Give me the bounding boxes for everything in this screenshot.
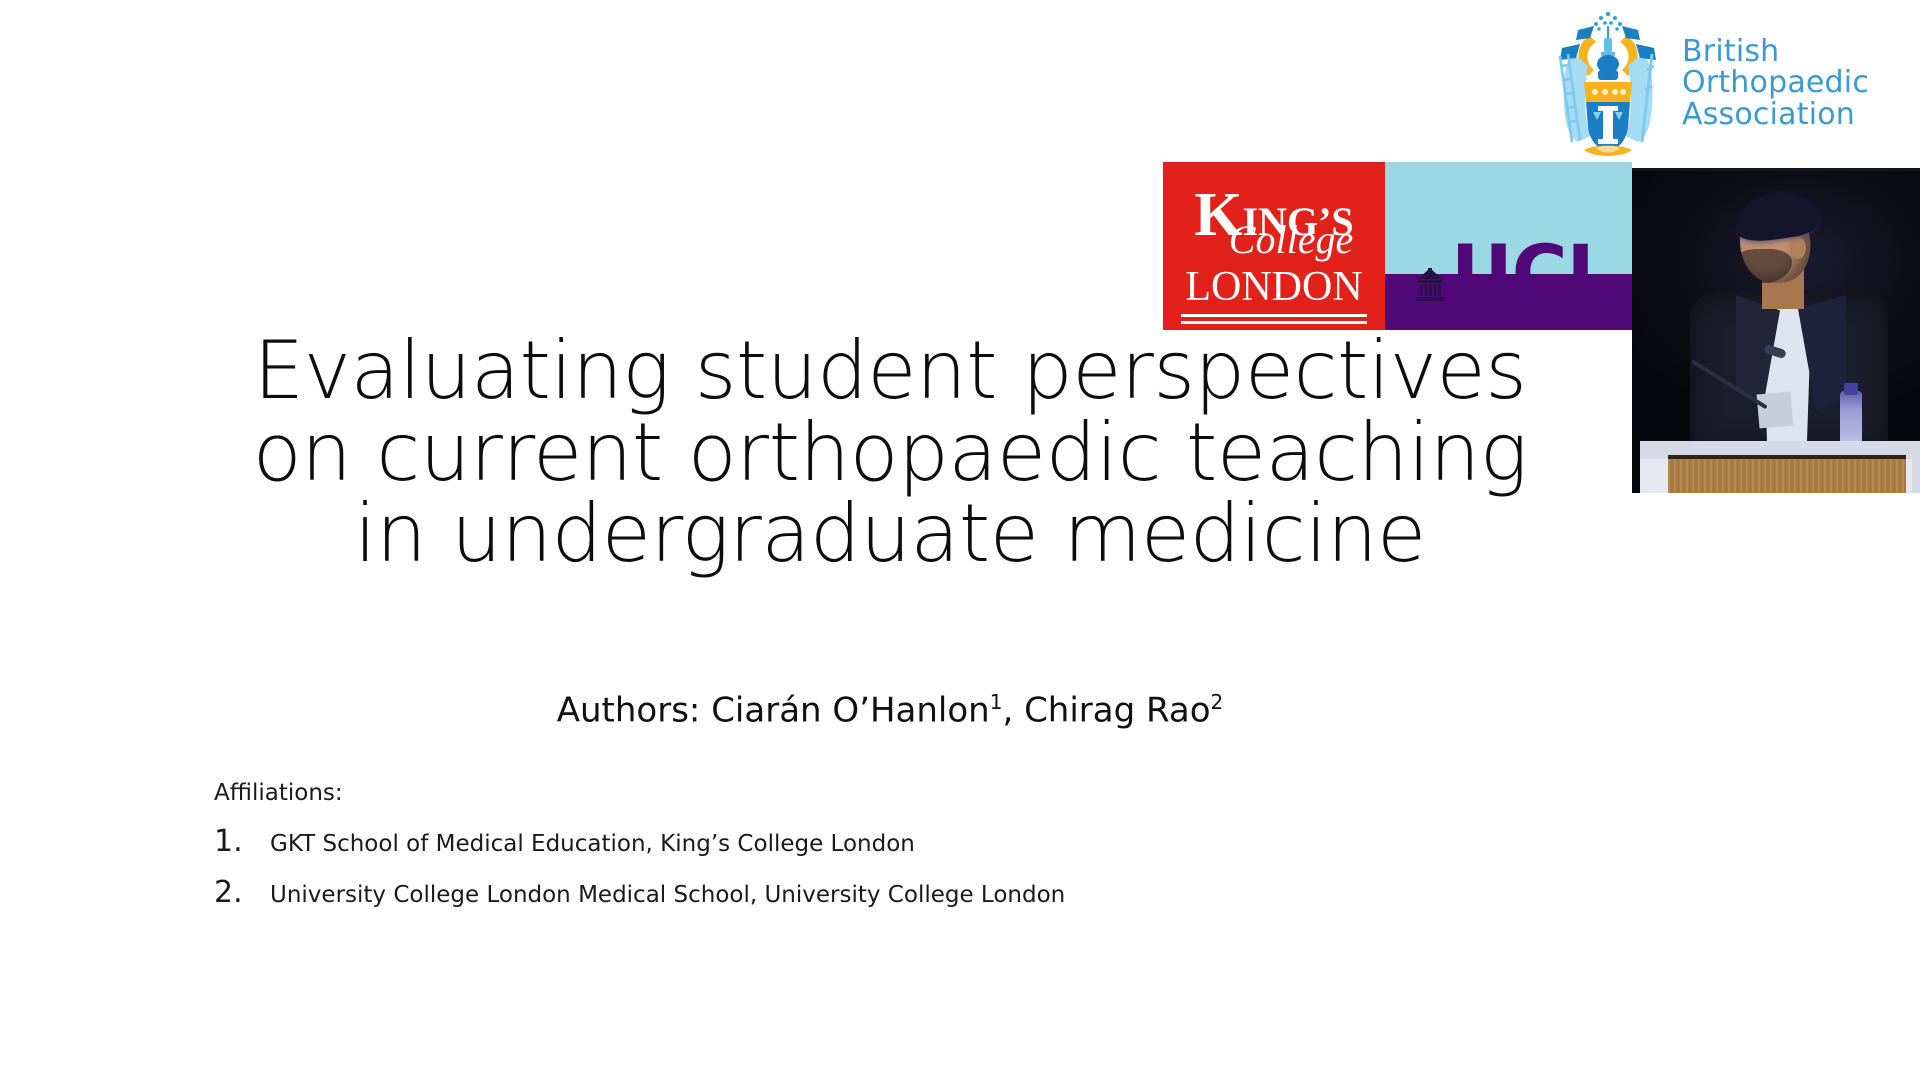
lectern-side-left (1640, 459, 1670, 493)
ucl-logo: UCL (1385, 162, 1632, 330)
presentation-slide: British Orthopaedic Association KING’S C… (0, 0, 1920, 1080)
affiliation-item: 1. GKT School of Medical Education, King… (214, 824, 1314, 859)
speaker-ear (1790, 237, 1806, 259)
boa-line-1: British (1682, 36, 1869, 67)
boa-wordmark: British Orthopaedic Association (1682, 36, 1869, 130)
kcl-line-college: College (1163, 220, 1385, 260)
british-orthopaedic-association-logo: British Orthopaedic Association (1548, 4, 1920, 162)
author-2-name: Chirag Rao (1024, 690, 1210, 730)
slide-title: Evaluating student perspectives on curre… (150, 330, 1630, 575)
water-bottle-cap (1844, 383, 1858, 395)
author-1-affiliation-marker: 1 (990, 690, 1003, 714)
ucl-letters: UCL (1451, 243, 1614, 302)
affiliations-heading: Affiliations: (214, 780, 1314, 806)
affiliations-list: 1. GKT School of Medical Education, King… (214, 824, 1314, 910)
author-2-affiliation-marker: 2 (1211, 690, 1224, 714)
lectern-front-panel (1668, 455, 1906, 493)
title-line-3: in undergraduate medicine (150, 493, 1630, 575)
affiliation-text: GKT School of Medical Education, King’s … (270, 831, 915, 857)
title-line-1: Evaluating student perspectives (150, 330, 1630, 412)
authors-separator: , (1002, 690, 1024, 730)
affiliation-number: 2. (214, 875, 270, 910)
affiliation-number: 1. (214, 824, 270, 859)
speaker-video-overlay[interactable] (1632, 168, 1920, 493)
speaker-lanyard-badge (1757, 392, 1794, 429)
lectern-wood-grain (1668, 459, 1906, 493)
ucl-portico-icon (1415, 268, 1445, 302)
affiliation-text: University College London Medical School… (270, 882, 1065, 908)
title-line-2: on current orthopaedic teaching (150, 412, 1630, 494)
kcl-line-london: LONDON (1163, 266, 1385, 308)
boa-line-3: Association (1682, 99, 1869, 130)
kings-college-london-logo: KING’S College LONDON (1163, 162, 1385, 330)
affiliations-block: Affiliations: 1. GKT School of Medical E… (214, 780, 1314, 926)
boa-crest-icon (1548, 8, 1668, 158)
author-1-name: Ciarán O’Hanlon (711, 690, 990, 730)
authors-prefix: Authors: (557, 690, 711, 730)
ucl-mark: UCL (1415, 243, 1614, 302)
authors-line: Authors: Ciarán O’Hanlon1, Chirag Rao2 (150, 690, 1630, 730)
affiliation-item: 2. University College London Medical Sch… (214, 875, 1314, 910)
boa-line-2: Orthopaedic (1682, 67, 1869, 98)
university-logo-strip: KING’S College LONDON (1163, 162, 1632, 330)
